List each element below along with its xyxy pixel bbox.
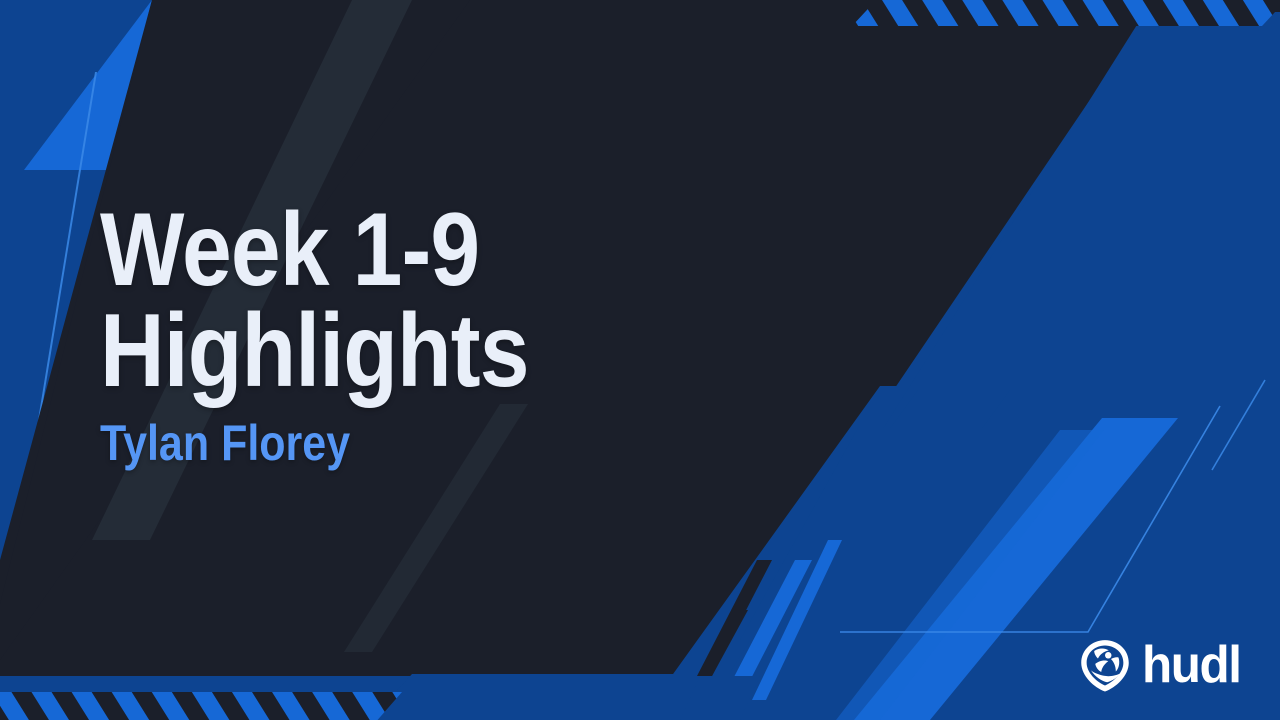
hatch-band-top-right: [852, 0, 1280, 26]
hudl-logo: hudl: [1078, 638, 1246, 692]
hudl-wordmark: hudl: [1142, 639, 1241, 691]
title-card: Week 1-9 Highlights Tylan Florey hudl: [0, 0, 1280, 720]
title-block: Week 1-9 Highlights Tylan Florey: [100, 200, 740, 468]
title-line-1: Week 1-9: [100, 200, 650, 301]
title-line-2: Highlights: [100, 301, 650, 402]
hudl-swirl-icon: [1078, 638, 1132, 692]
subtitle-player-name: Tylan Florey: [100, 418, 650, 468]
hatch-band-bottom-left: [0, 692, 402, 720]
